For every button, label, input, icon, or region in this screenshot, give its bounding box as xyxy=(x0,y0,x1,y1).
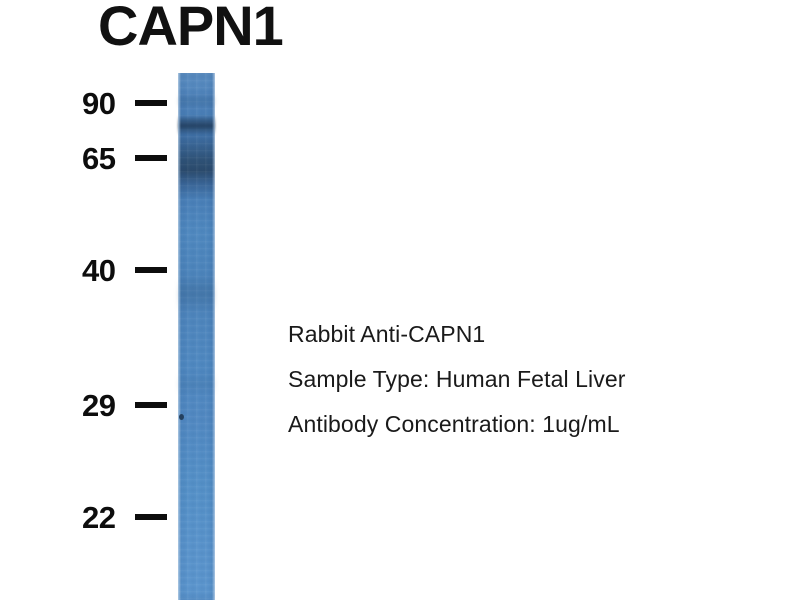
ladder-label: 65 xyxy=(82,143,132,174)
ladder-marker-90: 90 xyxy=(82,86,178,120)
gel-band-faint-mid xyxy=(178,278,215,312)
ladder-marker-22: 22 xyxy=(82,500,178,534)
gel-lane-speck xyxy=(179,414,184,420)
ladder-label: 40 xyxy=(82,255,132,286)
ladder-dash-icon xyxy=(135,155,167,161)
gel-lane-edge-left xyxy=(178,73,181,600)
gel-lane-texture xyxy=(178,73,215,600)
gel-lane xyxy=(178,73,215,600)
annotation-sample-type: Sample Type: Human Fetal Liver xyxy=(288,357,758,402)
western-blot-figure: CAPN1 90 65 40 29 22 xyxy=(0,0,800,600)
gel-lane-edge-right xyxy=(212,73,215,600)
annotation-antibody-concentration: Antibody Concentration: 1ug/mL xyxy=(288,402,758,447)
page-title: CAPN1 xyxy=(98,0,283,56)
ladder-marker-29: 29 xyxy=(82,388,178,422)
ladder-marker-65: 65 xyxy=(82,141,178,175)
annotation-block: Rabbit Anti-CAPN1 Sample Type: Human Fet… xyxy=(288,312,758,447)
gel-band-primary xyxy=(178,115,215,135)
ladder-label: 90 xyxy=(82,88,132,119)
ladder-dash-icon xyxy=(135,514,167,520)
ladder-dash-icon xyxy=(135,402,167,408)
ladder-label: 22 xyxy=(82,502,132,533)
annotation-antibody: Rabbit Anti-CAPN1 xyxy=(288,312,758,357)
gel-band-faint-upper xyxy=(178,93,215,109)
ladder-dash-icon xyxy=(135,267,167,273)
ladder-dash-icon xyxy=(135,100,167,106)
ladder-label: 29 xyxy=(82,390,132,421)
gel-band-faint-lower xyxy=(178,373,215,395)
ladder-marker-40: 40 xyxy=(82,253,178,287)
